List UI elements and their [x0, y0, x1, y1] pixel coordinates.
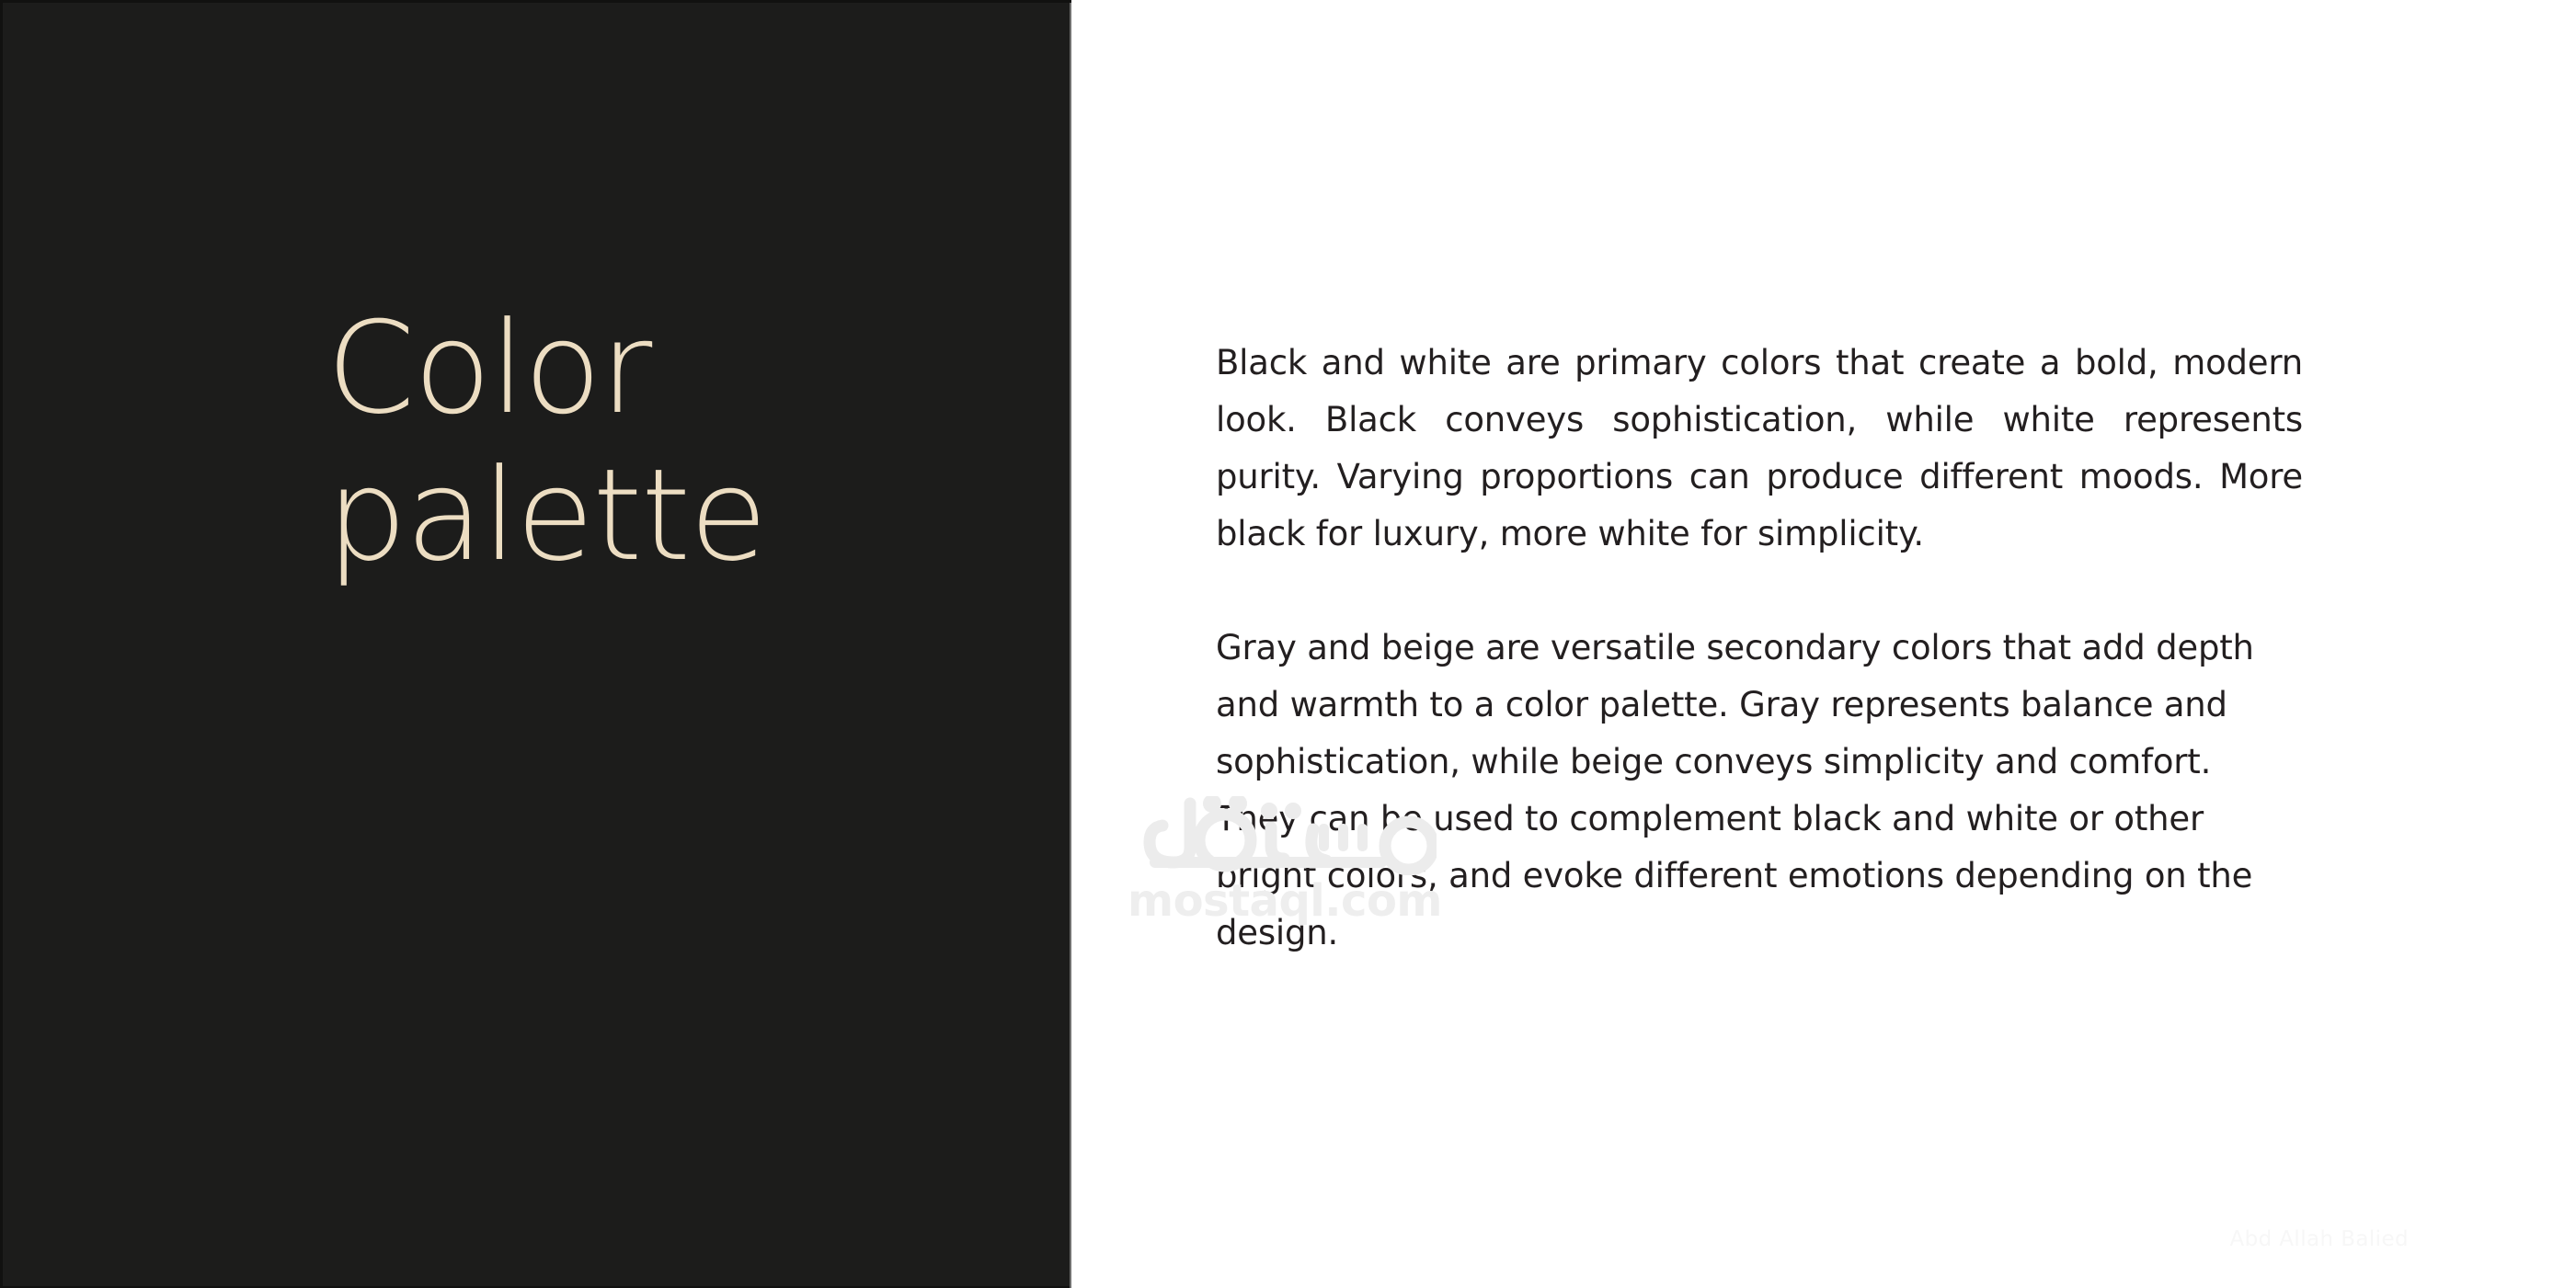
slide-canvas: Color palette Black and white are primar…	[0, 0, 2576, 1288]
mostaql-watermark: mostaql.com	[1110, 796, 1460, 923]
mostaql-domain-label: mostaql.com	[1110, 879, 1460, 923]
author-credit: Abd Allah Balied	[2229, 1229, 2409, 1250]
content-panel: Black and white are primary colors that …	[1071, 0, 2576, 1288]
mostaql-arabic-logo-icon	[1110, 796, 1460, 875]
paragraph-primary-colors: Black and white are primary colors that …	[1216, 335, 2303, 563]
title-panel: Color palette	[0, 0, 1071, 1288]
page-title: Color palette	[326, 295, 1025, 589]
